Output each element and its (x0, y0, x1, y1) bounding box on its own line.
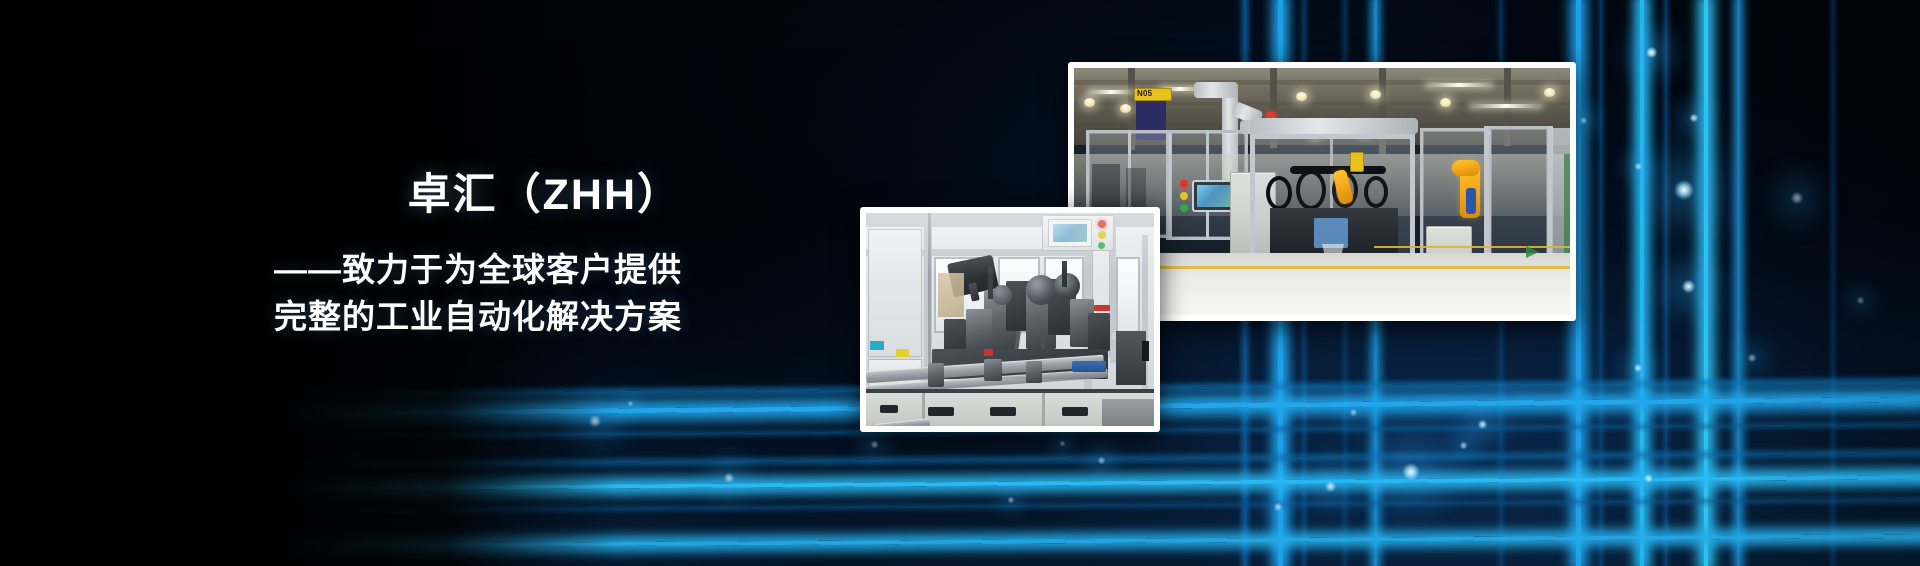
hero-banner: 卓汇（ZHH） ——致力于为全球客户提供 完整的工业自动化解决方案 (0, 0, 1920, 566)
assembly-machine-photo-frame (866, 213, 1154, 426)
page-title: 卓汇（ZHH） (262, 170, 682, 221)
assembly-machine-photo (860, 207, 1160, 432)
subtitle-line-2: 完整的工业自动化解决方案 (262, 294, 682, 341)
banner-copy: 卓汇（ZHH） ——致力于为全球客户提供 完整的工业自动化解决方案 (262, 170, 682, 340)
subtitle-line-1: ——致力于为全球客户提供 (262, 247, 682, 294)
